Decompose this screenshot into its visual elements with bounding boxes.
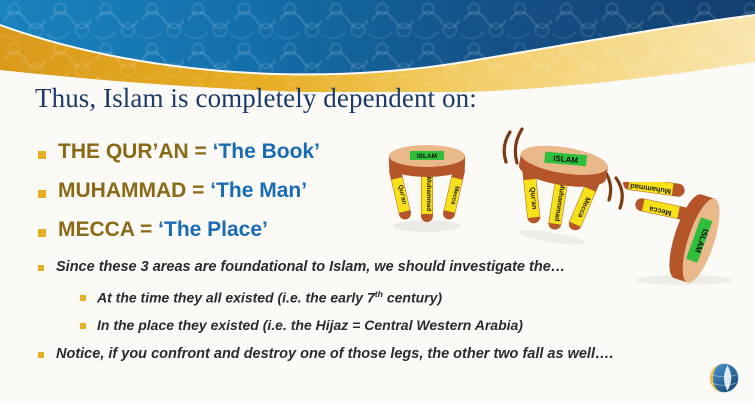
bullet-square-icon (38, 352, 44, 358)
bullet-square-icon (38, 151, 46, 159)
motion-lines-left (504, 129, 522, 163)
text-investigate-lead: Since these 3 areas are foundational to … (56, 259, 565, 276)
definition-muhammad: ‘The Man’ (210, 179, 307, 202)
sub-bullet-place: In the place they existed (i.e. the Hija… (80, 317, 523, 333)
text-place: In the place they existed (i.e. the Hija… (97, 317, 523, 333)
leg-label-muhammad: Muhammad (425, 177, 432, 212)
header-wave-graphic (0, 0, 755, 92)
bullet-square-icon (38, 190, 46, 198)
text-time-post: century) (383, 290, 442, 306)
globe-logo (707, 361, 741, 395)
bullet-square-icon (80, 323, 86, 329)
fallen-stool: Qur'an Muhammad Mecca ISLAM (604, 182, 752, 288)
upright-stool: Qur'an Muhammad Mecca ISLAM (372, 130, 482, 235)
equals-sign: = (134, 218, 158, 241)
bullet-square-icon (80, 295, 86, 301)
text-notice-closing: Notice, if you confront and destroy one … (56, 346, 614, 363)
term-muhammad: MUHAMMAD (58, 179, 186, 202)
bullet-square-icon (38, 265, 44, 271)
slide-title: Thus, Islam is completely dependent on: (35, 83, 477, 114)
term-mecca: MECCA (58, 218, 134, 241)
definition-quran: ‘The Book’ (213, 140, 320, 163)
bullet-square-icon (38, 229, 46, 237)
slide-canvas: Thus, Islam is completely dependent on: … (0, 0, 755, 403)
bullet-investigate-lead: Since these 3 areas are foundational to … (38, 259, 565, 276)
bullet-quran: THE QUR’AN = ‘The Book’ (38, 141, 320, 162)
term-quran: THE QUR’AN (58, 140, 189, 163)
equals-sign: = (189, 140, 213, 163)
bullet-notice-closing: Notice, if you confront and destroy one … (38, 346, 614, 363)
definition-mecca: ‘The Place’ (158, 218, 268, 241)
equals-sign: = (186, 179, 210, 202)
sub-bullet-time: At the time they all existed (i.e. the e… (80, 289, 442, 306)
seat-label-islam: ISLAM (417, 153, 437, 160)
bullet-muhammad: MUHAMMAD = ‘The Man’ (38, 180, 307, 201)
text-time-sup: th (375, 289, 383, 299)
bullet-mecca: MECCA = ‘The Place’ (38, 219, 268, 240)
header-decorative-band (0, 0, 755, 92)
text-time-pre: At the time they all existed (i.e. the e… (97, 290, 375, 306)
